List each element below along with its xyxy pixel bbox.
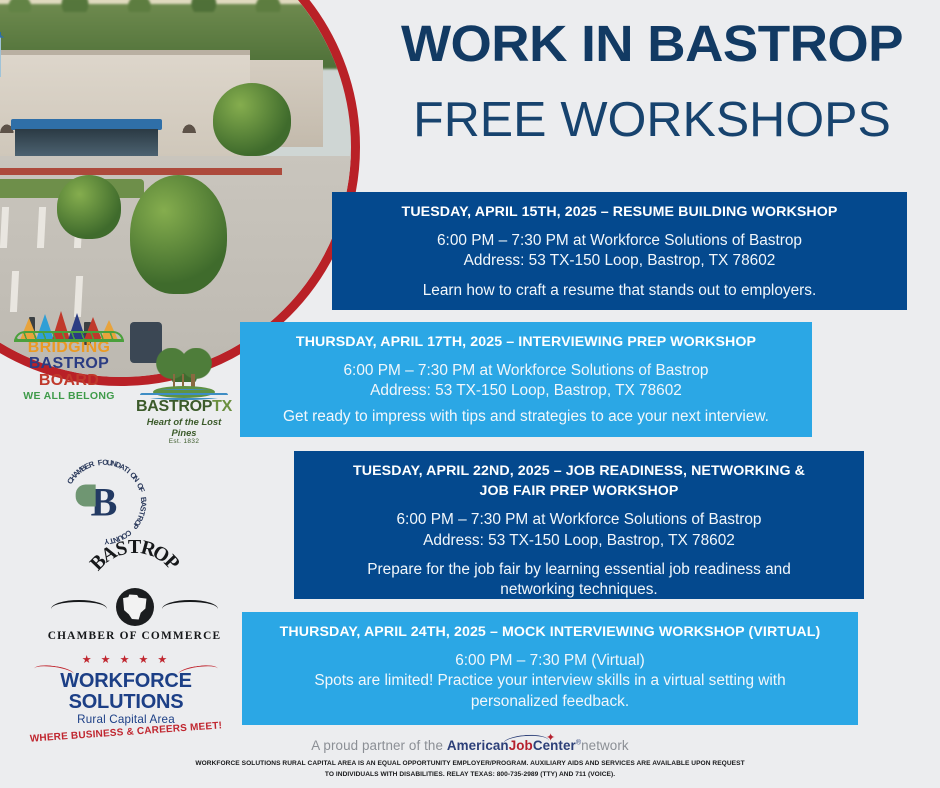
bbb-line-2: BASTROP xyxy=(14,356,124,372)
workshop-2-time: 6:00 PM – 7:30 PM at Workforce Solutions… xyxy=(254,361,798,381)
bastrop-chamber-logo: BASTROP CHAMBER OF COMMERCE xyxy=(47,560,222,642)
workforce-solutions-logo: ★ ★ ★ ★ ★ WORKFORCE SOLUTIONS Rural Capi… xyxy=(28,655,224,721)
wfs-stars-icon: ★ ★ ★ ★ ★ xyxy=(28,655,224,666)
bcc-flourish-left xyxy=(51,600,107,618)
workshop-2-description: Get ready to impress with tips and strat… xyxy=(254,407,798,427)
ajc-american: American xyxy=(447,738,509,753)
bastrop-tx-logo: BASTROPTX Heart of the Lost Pines Est. 1… xyxy=(133,348,235,440)
workshop-card-1[interactable]: TUESDAY, APRIL 15TH, 2025 – RESUME BUILD… xyxy=(332,192,907,310)
photo-windows xyxy=(15,129,158,157)
cfb-monogram: B xyxy=(91,479,118,526)
workshop-card-4[interactable]: THURSDAY, APRIL 24TH, 2025 – MOCK INTERV… xyxy=(242,612,858,725)
workshop-3-address: Address: 53 TX-150 Loop, Bastrop, TX 786… xyxy=(308,531,850,551)
btx-established: Est. 1832 xyxy=(133,438,235,445)
bbb-bridge-icon xyxy=(14,331,124,342)
workshop-3-description-line2: networking techniques. xyxy=(308,580,850,600)
btx-name: BASTROPTX xyxy=(133,398,235,416)
bcc-flourish-right xyxy=(162,600,218,618)
photo-red-curb xyxy=(0,168,282,175)
workshop-1-heading: TUESDAY, APRIL 15TH, 2025 – RESUME BUILD… xyxy=(346,202,893,222)
btx-river-icon xyxy=(140,389,228,400)
photo-tree xyxy=(213,83,291,157)
workshop-card-3[interactable]: TUESDAY, APRIL 22ND, 2025 – JOB READINES… xyxy=(294,451,864,599)
workshop-3-description: Prepare for the job fair by learning ess… xyxy=(308,560,850,580)
bbb-tagline: WE ALL BELONG xyxy=(14,391,124,402)
btx-tree-icon xyxy=(133,348,235,398)
page-subtitle: FREE WORKSHOPS xyxy=(366,96,937,145)
workshop-3-heading-line2: JOB FAIR PREP WORKSHOP xyxy=(308,481,850,501)
workshop-card-2[interactable]: THURSDAY, APRIL 17TH, 2025 – INTERVIEWIN… xyxy=(240,322,812,437)
photo-tree xyxy=(57,175,121,239)
ajc-center: Center xyxy=(533,738,576,753)
wfs-swoosh-icon xyxy=(28,666,224,671)
bcc-subtitle: CHAMBER OF COMMERCE xyxy=(47,630,222,642)
photo-tree xyxy=(130,175,227,295)
workshop-2-heading: THURSDAY, APRIL 17TH, 2025 – INTERVIEWIN… xyxy=(254,332,798,352)
poster-canvas: WORK IN BASTROP FREE WORKSHOPS TUESDAY, … xyxy=(0,0,940,788)
page-title: WORK IN BASTROP xyxy=(361,18,940,69)
workshop-1-address: Address: 53 TX-150 Loop, Bastrop, TX 786… xyxy=(346,251,893,271)
workshop-1-description: Learn how to craft a resume that stands … xyxy=(346,281,893,301)
workshop-4-description: Spots are limited! Practice your intervi… xyxy=(256,671,844,691)
ajc-job: Job xyxy=(509,738,533,753)
workshop-4-description-line2: personalized feedback. xyxy=(256,692,844,712)
bridging-bastrop-board-logo: BRIDGING BASTROP BOARD WE ALL BELONG xyxy=(14,310,124,394)
ajc-suffix: network xyxy=(581,738,629,753)
workshop-4-heading: THURSDAY, APRIL 24TH, 2025 – MOCK INTERV… xyxy=(256,622,844,642)
workshop-3-heading: TUESDAY, APRIL 22ND, 2025 – JOB READINES… xyxy=(308,461,850,481)
workshop-3-time: 6:00 PM – 7:30 PM at Workforce Solutions… xyxy=(308,510,850,530)
american-job-center-attribution: A proud partner of the AmericanJobCenter… xyxy=(0,738,940,753)
legal-line-1: WORKFORCE SOLUTIONS RURAL CAPITAL AREA I… xyxy=(0,759,940,770)
legal-disclaimer: WORKFORCE SOLUTIONS RURAL CAPITAL AREA I… xyxy=(0,759,940,781)
bbb-line-3: BOARD xyxy=(14,373,124,389)
workshop-2-address: Address: 53 TX-150 Loop, Bastrop, TX 786… xyxy=(254,381,798,401)
bbb-tree-icons xyxy=(14,310,124,340)
workshop-1-time: 6:00 PM – 7:30 PM at Workforce Solutions… xyxy=(346,231,893,251)
ajc-prefix: A proud partner of the xyxy=(311,738,447,753)
workshop-4-time: 6:00 PM – 7:30 PM (Virtual) xyxy=(256,651,844,671)
legal-line-2: TO INDIVIDUALS WITH DISABILITIES. RELAY … xyxy=(0,770,940,781)
photo-water-tower xyxy=(0,32,1,77)
btx-tagline: Heart of the Lost Pines xyxy=(133,416,235,438)
bbb-line-1: BRIDGING xyxy=(14,340,124,356)
